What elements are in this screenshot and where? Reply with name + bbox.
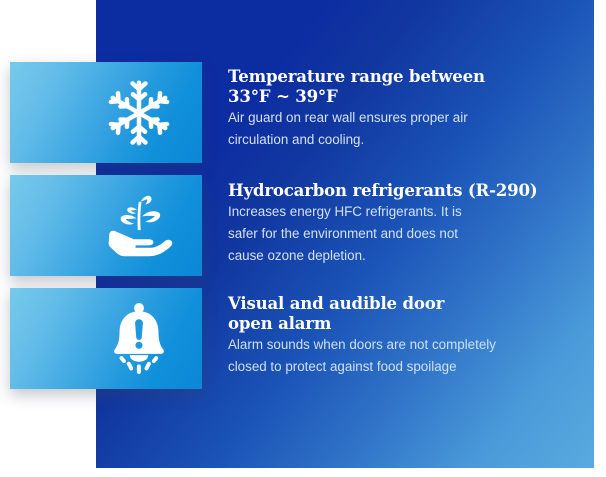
feature-icon-card-temperature (10, 62, 202, 163)
feature-heading: Visual and audible door open alarm (228, 293, 588, 333)
feature-text-block-temperature: Temperature range between 33°F ~ 39°F Ai… (228, 66, 588, 151)
feature-highlights-panel: Temperature range between 33°F ~ 39°F Ai… (0, 0, 606, 477)
feature-heading: Temperature range between 33°F ~ 39°F (228, 66, 588, 106)
feature-text-block-refrigerant: Hydrocarbon refrigerants (R-290) Increas… (228, 180, 588, 267)
feature-icon-card-door-alarm (10, 288, 202, 389)
feature-description: Alarm sounds when doors are not complete… (228, 334, 588, 378)
alarm-bell-icon (10, 288, 202, 389)
plant-in-hand-icon (10, 175, 202, 276)
feature-heading: Hydrocarbon refrigerants (R-290) (228, 180, 588, 200)
feature-description: Air guard on rear wall ensures proper ai… (228, 107, 588, 151)
snowflake-icon (10, 62, 202, 163)
feature-icon-card-refrigerant (10, 175, 202, 276)
feature-description: Increases energy HFC refrigerants. It is… (228, 201, 588, 267)
feature-text-block-door-alarm: Visual and audible door open alarm Alarm… (228, 293, 588, 378)
